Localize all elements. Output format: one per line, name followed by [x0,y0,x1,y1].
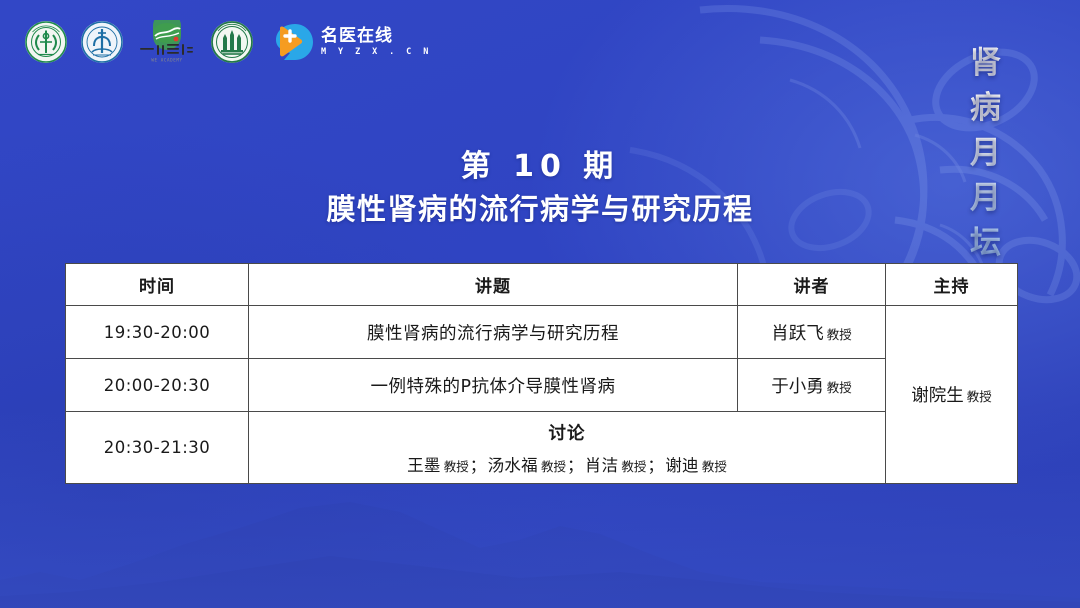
agenda-table: 时间 讲题 讲者 主持 19:30-20:00 膜性肾病的流行病学与研究历程 肖… [65,263,1018,484]
row-1-topic: 膜性肾病的流行病学与研究历程 [249,306,738,359]
hospital-seal-green-2-icon [210,20,254,64]
discussant-name: 汤水福 [488,456,538,475]
presentation-slide: WE ACADEMY [0,0,1080,608]
row-1-speaker-name: 肖跃飞 [771,324,824,344]
host-name: 谢院生 [911,386,964,406]
row-1-speaker-title: 教授 [827,327,852,342]
discussant-separator: ； [647,456,664,475]
column-header-speaker: 讲者 [738,264,886,306]
myzx-brand-en: M Y Z X . C N [321,48,432,57]
row-2-speaker: 于小勇教授 [738,359,886,412]
svg-text:WE ACADEMY: WE ACADEMY [151,58,182,63]
discussant-separator: ； [470,456,487,475]
discussant-list: 王墨教授；汤水福教授；肖洁教授；谢迪教授 [249,452,885,476]
row-1-speaker: 肖跃飞教授 [738,306,886,359]
row-2-time: 20:00-20:30 [66,359,249,412]
discussion-cell: 讨论 王墨教授；汤水福教授；肖洁教授；谢迪教授 [249,412,886,484]
issue-number: 第 10 期 [0,148,1080,186]
play-plus-icon [270,22,316,62]
host-cell: 谢院生教授 [886,306,1018,484]
table-row: 20:00-20:30 一例特殊的P抗体介导膜性肾病 于小勇教授 [66,359,1018,412]
myzx-brand-cn: 名医在线 [321,28,432,45]
discussion-heading: 讨论 [249,420,885,445]
discussant-title: 教授 [702,459,727,474]
hospital-seal-blue-icon [80,20,124,64]
column-header-time: 时间 [66,264,249,306]
discussant-title: 教授 [444,459,469,474]
host-title: 教授 [967,389,992,404]
discussant-title: 教授 [541,459,566,474]
row-2-speaker-title: 教授 [827,380,852,395]
table-row: 20:30-21:30 讨论 王墨教授；汤水福教授；肖洁教授；谢迪教授 [66,412,1018,484]
row-2-speaker-name: 于小勇 [771,377,824,397]
table-row: 19:30-20:00 膜性肾病的流行病学与研究历程 肖跃飞教授 谢院生教授 [66,306,1018,359]
discussant-title: 教授 [621,459,646,474]
hospital-seal-green-1-icon [24,20,68,64]
page-title: 膜性肾病的流行病学与研究历程 [0,190,1080,229]
slide-title-block: 第 10 期 膜性肾病的流行病学与研究历程 [0,148,1080,229]
partner-logo-strip: WE ACADEMY [24,20,432,64]
academy-wordmark-icon: WE ACADEMY [136,20,198,64]
discussant-name: 谢迪 [665,456,699,475]
row-2-topic: 一例特殊的P抗体介导膜性肾病 [249,359,738,412]
row-1-time: 19:30-20:00 [66,306,249,359]
discussant-separator: ； [567,456,584,475]
row-3-time: 20:30-21:30 [66,412,249,484]
column-header-host: 主持 [886,264,1018,306]
discussant-name: 王墨 [407,456,441,475]
myzx-brand-logo: 名医在线 M Y Z X . C N [270,22,432,62]
column-header-topic: 讲题 [249,264,738,306]
discussant-name: 肖洁 [585,456,619,475]
table-header-row: 时间 讲题 讲者 主持 [66,264,1018,306]
slide-header: WE ACADEMY [0,0,1080,88]
